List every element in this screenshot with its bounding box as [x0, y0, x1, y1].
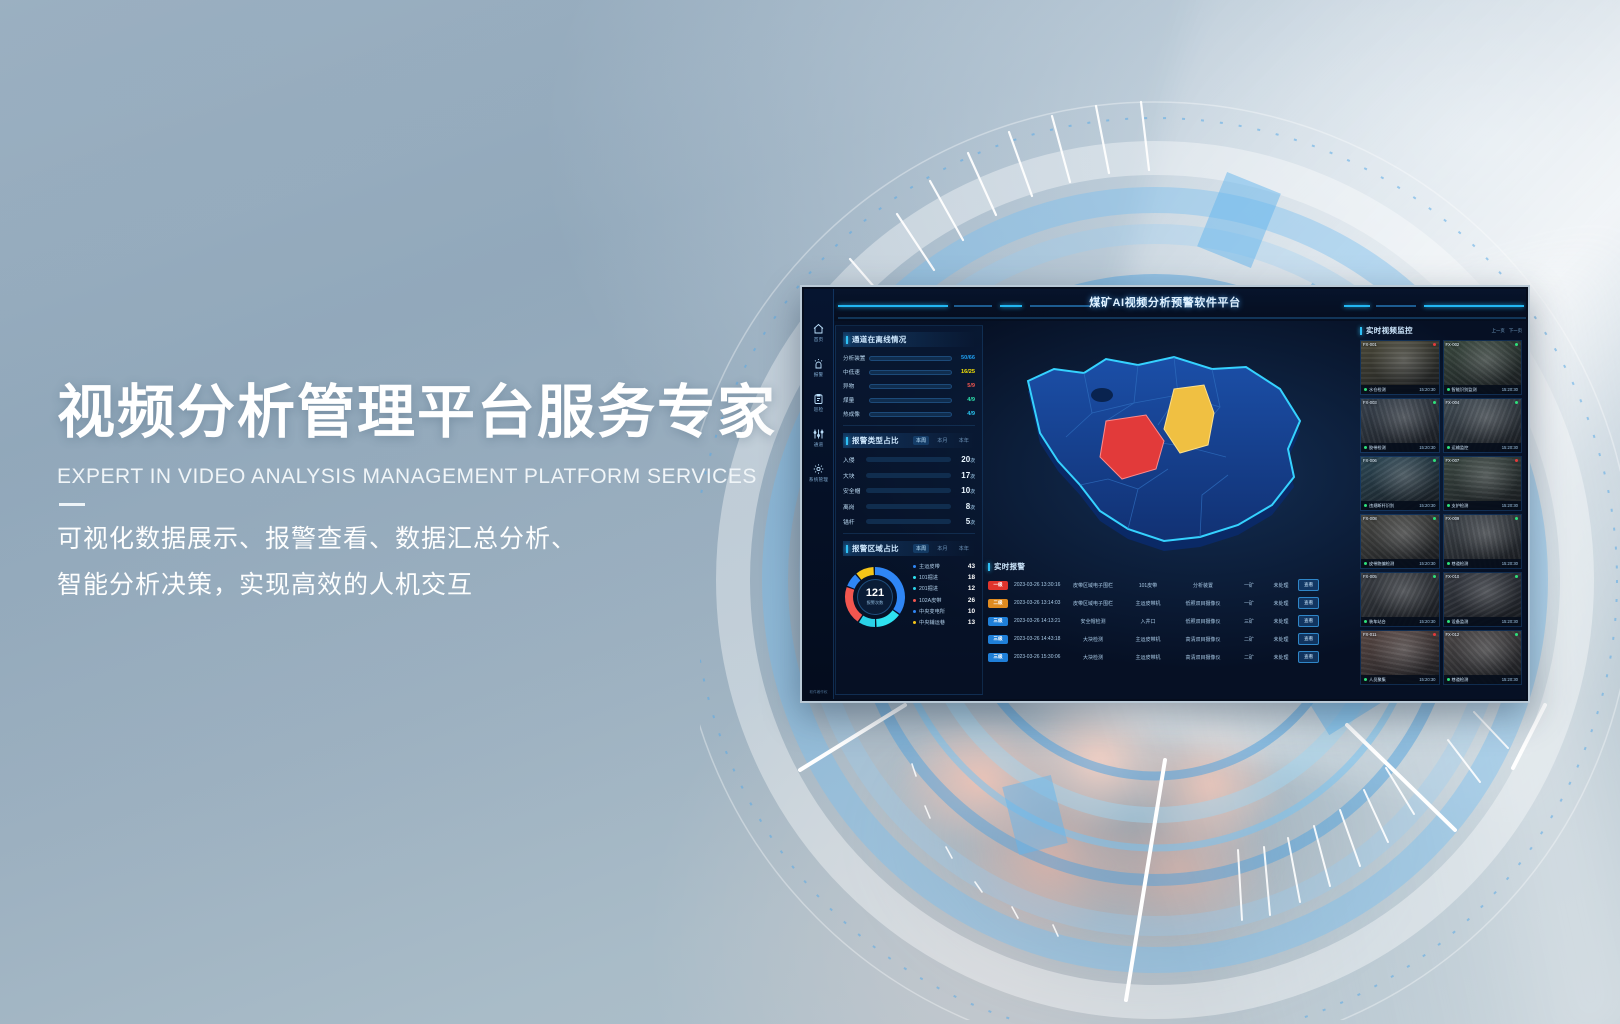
sidebar-label-system: 系统管理: [804, 477, 833, 483]
video-record-indicator: [1515, 401, 1518, 404]
video-camera-name: 设备监测: [1452, 619, 1502, 625]
legend-color-dot: [913, 576, 916, 579]
alarm-location: 入井口: [1124, 618, 1172, 625]
sidebar-item-channel[interactable]: 通道: [804, 428, 833, 448]
donut-center: 121 报警次数: [857, 579, 893, 615]
alarm-type-bar-track: [866, 457, 951, 462]
video-camera-name: 胶带检测: [1369, 445, 1419, 451]
period-tab-0[interactable]: 本周: [913, 436, 929, 445]
channel-value: 16/25: [952, 369, 975, 375]
sidebar-label-home: 首页: [804, 337, 833, 343]
video-status-dot: [1447, 620, 1450, 623]
alarm-status: 未处理: [1264, 636, 1298, 643]
legend-item: 101掘进 18: [913, 574, 975, 581]
alarm-type-panel-header: 报警类型占比 本周本月本年: [843, 433, 975, 448]
video-camera-id: FX-008: [1363, 516, 1377, 521]
legend-item: 主运皮带 43: [913, 563, 975, 570]
hero-line-1: 可视化数据展示、报警查看、数据汇总分析、: [57, 516, 817, 562]
channel-value: 4/9: [952, 411, 975, 417]
alarm-mine: 二矿: [1234, 636, 1264, 643]
video-camera-id: FX-005: [1363, 574, 1377, 579]
alarm-area-panel-title: 报警区域占比: [852, 543, 899, 554]
video-timestamp: 15:20:30: [1502, 619, 1518, 624]
alarm-mine: 二矿: [1234, 654, 1264, 661]
alarm-device: 低照双目摄像仪: [1172, 618, 1234, 625]
alarm-status: 未处理: [1264, 654, 1298, 661]
clipboard-icon: [804, 393, 833, 405]
video-pagination[interactable]: 上一页 下一页: [1492, 328, 1522, 334]
legend-color-dot: [913, 587, 916, 590]
accent-bar: [846, 545, 848, 553]
alarm-level-badge: 一级: [988, 581, 1008, 590]
alarm-device: 高清双目摄像仪: [1172, 654, 1234, 661]
video-timestamp: 15:20:30: [1419, 387, 1435, 392]
alarm-status: 未处理: [1264, 600, 1298, 607]
legend-value: 43: [968, 563, 975, 570]
video-tile-footer: 人员聚集 15:20:30: [1361, 675, 1439, 684]
realtime-alarm-title: 实时报警: [994, 561, 1025, 572]
video-camera-name: 皮带跑偏检测: [1369, 561, 1419, 567]
video-timestamp: 15:20:30: [1419, 677, 1435, 682]
video-record-indicator: [1433, 343, 1436, 346]
channel-bar-track: [869, 412, 952, 417]
video-status-dot: [1364, 388, 1367, 391]
period-tab-2[interactable]: 本年: [956, 436, 972, 445]
legend-color-dot: [913, 610, 916, 613]
donut-slice-2[interactable]: [861, 619, 875, 623]
alarm-type-row: 入侵 20次: [843, 455, 975, 464]
video-tile[interactable]: FX-005 装车站台 15:20:30: [1360, 572, 1440, 627]
page-title: 视频分析管理平台服务专家: [57, 380, 817, 447]
video-camera-id: FX-011: [1363, 632, 1376, 637]
video-camera-id: FX-002: [1446, 342, 1460, 347]
legend-value: 12: [968, 585, 975, 592]
dashboard-topbar: 煤矿AI视频分析预警软件平台: [804, 289, 1526, 321]
home-icon: [804, 323, 833, 335]
dashboard-sidebar: 首页 报警 巡检 通道: [804, 289, 834, 699]
channel-value: 50/66: [952, 355, 975, 361]
legend-value: 26: [968, 597, 975, 604]
video-tile[interactable]: FX-002 智能识别监测 15:20:30: [1443, 340, 1523, 395]
video-camera-name: 运输监控: [1452, 445, 1502, 451]
alarm-mine: 一矿: [1234, 582, 1264, 589]
video-timestamp: 15:20:30: [1502, 561, 1518, 566]
video-status-dot: [1447, 388, 1450, 391]
video-prev-page[interactable]: 上一页: [1492, 328, 1505, 334]
alarm-type-bar-track: [866, 488, 951, 493]
alarm-level-badge: 三级: [988, 653, 1008, 662]
video-record-indicator: [1433, 459, 1436, 462]
video-camera-name: 违规断杆识别: [1369, 503, 1419, 509]
alarm-type-value: 17次: [951, 471, 975, 480]
video-timestamp: 15:20:30: [1502, 445, 1518, 450]
hero-divider: [59, 503, 85, 506]
dashboard-screen: 煤矿AI视频分析预警软件平台 首页 报警: [804, 289, 1526, 699]
channel-label: 异物: [843, 382, 869, 390]
video-camera-id: FX-003: [1363, 400, 1377, 405]
video-camera-id: FX-012: [1446, 632, 1460, 637]
alarm-type-unit: 次: [970, 506, 975, 511]
video-panel-header: 实时视频监控 上一页 下一页: [1360, 325, 1522, 336]
donut-slice-5[interactable]: [859, 571, 874, 577]
alarm-location: 101皮带: [1124, 582, 1172, 589]
alarm-type-unit: 次: [970, 475, 975, 480]
alarm-type-value: 10次: [951, 486, 975, 495]
dashboard-monitor: 煤矿AI视频分析预警软件平台 首页 报警: [800, 285, 1530, 703]
video-status-dot: [1364, 678, 1367, 681]
channel-label: 中低速: [843, 368, 869, 376]
channel-value: 5/9: [952, 383, 975, 389]
app-title: 煤矿AI视频分析预警软件平台: [804, 294, 1526, 310]
alarm-device: 分析装置: [1172, 582, 1234, 589]
video-tile[interactable]: FX-008 皮带跑偏检测 15:20:30: [1360, 514, 1440, 569]
donut-chart: 121 报警次数: [843, 565, 907, 629]
channel-label: 煤量: [843, 396, 869, 404]
video-status-dot: [1364, 562, 1367, 565]
legend-value: 10: [968, 608, 975, 615]
alarm-view-button[interactable]: 查看: [1298, 615, 1319, 627]
video-tile-footer: 支护检测 15:20:30: [1444, 501, 1522, 510]
legend-label: 中央辅运巷: [919, 619, 968, 626]
channel-value: 4/9: [952, 397, 975, 403]
video-tile[interactable]: FX-006 违规断杆识别 15:20:30: [1360, 456, 1440, 511]
sidebar-label-channel: 通道: [804, 442, 833, 448]
video-tile[interactable]: FX-011 人员聚集 15:20:30: [1360, 630, 1440, 685]
sidebar-item-alarm[interactable]: 报警: [804, 358, 833, 378]
table-row[interactable]: 二级 2023-03-26 13:14:03 皮带区域电子围栏 主运皮带机 低照…: [988, 594, 1356, 612]
alarm-location: 主运皮带机: [1124, 600, 1172, 607]
legend-color-dot: [913, 565, 916, 568]
alarm-mine: 一矿: [1234, 600, 1264, 607]
divider: [843, 533, 975, 534]
alarm-level-badge: 三级: [988, 617, 1008, 626]
period-tab-1[interactable]: 本月: [934, 436, 950, 445]
realtime-alarm-header: 实时报警: [988, 561, 1356, 572]
video-camera-id: FX-004: [1446, 400, 1460, 405]
alarm-area-donut-section: 121 报警次数 主运皮带 43 101掘进 18 201掘进 12 102A皮…: [843, 563, 975, 630]
video-tile[interactable]: FX-007 支护检测 15:20:30: [1443, 456, 1523, 511]
channel-bar-track: [869, 398, 952, 403]
hero-line-2: 智能分析决策，实现高效的人机交互: [57, 562, 817, 608]
alarm-type-row: 大块 17次: [843, 471, 975, 480]
alarm-type-label: 离岗: [843, 502, 866, 511]
table-row[interactable]: 一级 2023-03-26 13:30:16 皮带区域电子围栏 101皮带 分析…: [988, 576, 1356, 594]
alarm-type: 大块检测: [1062, 654, 1124, 661]
sidebar-item-inspection[interactable]: 巡检: [804, 393, 833, 413]
accent-bar: [846, 437, 848, 445]
video-panel-title: 实时视频监控: [1366, 325, 1413, 336]
alarm-time: 2023-03-26 13:30:16: [1008, 582, 1062, 588]
video-camera-id: FX-007: [1446, 458, 1460, 463]
video-status-dot: [1447, 678, 1450, 681]
period-tab-0[interactable]: 本周: [913, 544, 929, 553]
video-timestamp: 15:20:30: [1419, 619, 1435, 624]
video-tile-footer: 胶带检测 15:20:30: [1361, 443, 1439, 452]
video-record-indicator: [1433, 633, 1436, 636]
alarm-type-unit: 次: [970, 459, 975, 464]
accent-bar: [846, 336, 848, 344]
video-tile[interactable]: FX-012 巷道检测 15:20:30: [1443, 630, 1523, 685]
table-row[interactable]: 三级 2023-03-26 14:43:18 大块检测 主运皮带机 高清双目摄像…: [988, 630, 1356, 648]
alarm-time: 2023-03-26 14:43:18: [1008, 636, 1062, 642]
alarm-type: 皮带区域电子围栏: [1062, 600, 1124, 607]
alarm-time: 2023-03-26 14:13:21: [1008, 618, 1062, 624]
video-record-indicator: [1433, 517, 1436, 520]
alarm-type-label: 大块: [843, 471, 866, 480]
alarm-type-row: 安全帽 10次: [843, 486, 975, 495]
alarm-view-button[interactable]: 查看: [1298, 633, 1319, 645]
video-timestamp: 15:20:30: [1419, 445, 1435, 450]
video-timestamp: 15:20:30: [1419, 503, 1435, 508]
alarm-type-label: 锚杆: [843, 517, 866, 526]
video-camera-name: 人员聚集: [1369, 677, 1419, 683]
video-camera-name: 支护检测: [1452, 503, 1502, 509]
sidebar-item-home[interactable]: 首页: [804, 323, 833, 343]
alarm-area-panel-header: 报警区域占比 本周本月本年: [843, 541, 975, 556]
video-camera-id: FX-006: [1363, 458, 1377, 463]
accent-bar: [1360, 327, 1362, 335]
video-tile-footer: 巷道检测 15:20:30: [1444, 559, 1522, 568]
video-tile[interactable]: FX-010 设备监测 15:20:30: [1443, 572, 1523, 627]
left-stats-panel: 通道在离线情况 分析装置 50/66 中低速 16/25 异物 5/9 煤量 4…: [835, 325, 983, 695]
alarm-type-value: 8次: [951, 502, 975, 511]
video-status-dot: [1364, 620, 1367, 623]
channel-row: 热成像 4/9: [843, 410, 975, 418]
alarm-view-button[interactable]: 查看: [1298, 597, 1319, 609]
alarm-type-value: 20次: [951, 455, 975, 464]
legend-label: 201掘进: [919, 585, 968, 592]
video-camera-name: 智能识别监测: [1452, 387, 1502, 393]
video-record-indicator: [1515, 459, 1518, 462]
video-camera-id: FX-010: [1446, 574, 1460, 579]
channel-bar-track: [869, 356, 952, 361]
alarm-status: 未处理: [1264, 582, 1298, 589]
hero-headline-block: 视频分析管理平台服务专家 EXPERT IN VIDEO ANALYSIS MA…: [57, 380, 817, 608]
video-status-dot: [1364, 504, 1367, 507]
video-camera-name: 装车站台: [1369, 619, 1419, 625]
video-status-dot: [1447, 446, 1450, 449]
alarm-type-value: 5次: [951, 517, 975, 526]
gear-icon: [804, 463, 833, 475]
video-next-page[interactable]: 下一页: [1509, 328, 1522, 334]
period-tab-2[interactable]: 本年: [956, 544, 972, 553]
video-tile[interactable]: FX-009 巷道检测 15:20:30: [1443, 514, 1523, 569]
channel-row: 中低速 16/25: [843, 368, 975, 376]
alarm-mine: 三矿: [1234, 618, 1264, 625]
video-tile-footer: 智能识别监测 15:20:30: [1444, 385, 1522, 394]
alarm-type: 皮带区域电子围栏: [1062, 582, 1124, 589]
alarm-type: 大块检测: [1062, 636, 1124, 643]
province-map[interactable]: [988, 329, 1340, 559]
legend-label: 102A皮带: [919, 597, 968, 604]
alarm-area-period-tabs[interactable]: 本周本月本年: [913, 544, 972, 553]
video-record-indicator: [1515, 633, 1518, 636]
divider: [843, 425, 975, 426]
legend-item: 201掘进 12: [913, 585, 975, 592]
alarm-type-label: 入侵: [843, 455, 866, 464]
alarm-device: 高清双目摄像仪: [1172, 636, 1234, 643]
alarm-type-bar-track: [866, 473, 951, 478]
legend-label: 主运皮带: [919, 563, 968, 570]
channel-label: 分析装置: [843, 354, 869, 362]
donut-total-value: 121: [866, 588, 884, 599]
alarm-location: 主运皮带机: [1124, 654, 1172, 661]
legend-label: 101掘进: [919, 574, 968, 581]
realtime-alarm-table: 一级 2023-03-26 13:30:16 皮带区域电子围栏 101皮带 分析…: [988, 576, 1356, 666]
table-row[interactable]: 三级 2023-03-26 14:13:21 安全帽检测 入井口 低照双目摄像仪…: [988, 612, 1356, 630]
video-status-dot: [1447, 562, 1450, 565]
video-tile-footer: 皮带跑偏检测 15:20:30: [1361, 559, 1439, 568]
copyright-note: 软件著作权: [804, 690, 833, 695]
alarm-view-button[interactable]: 查看: [1298, 579, 1319, 591]
legend-color-dot: [913, 599, 916, 602]
video-tile-footer: 设备监测 15:20:30: [1444, 617, 1522, 626]
alarm-level-badge: 二级: [988, 599, 1008, 608]
channel-row: 煤量 4/9: [843, 396, 975, 404]
alarm-view-button[interactable]: 查看: [1298, 651, 1319, 663]
video-tile-footer: 装车站台 15:20:30: [1361, 617, 1439, 626]
video-camera-id: FX-009: [1446, 516, 1460, 521]
legend-label: 中央变电所: [919, 608, 968, 615]
alarm-type-row: 离岗 8次: [843, 502, 975, 511]
channel-row: 分析装置 50/66: [843, 354, 975, 362]
channel-panel-title: 通道在离线情况: [852, 334, 907, 345]
video-camera-name: 巷道检测: [1452, 677, 1502, 683]
video-timestamp: 15:20:30: [1502, 387, 1518, 392]
alarm-type-bar-track: [866, 519, 951, 524]
video-tile[interactable]: FX-004 运输监控 15:20:30: [1443, 398, 1523, 453]
channel-bar-track: [869, 384, 952, 389]
alarm-type-panel-title: 报警类型占比: [852, 435, 899, 446]
video-camera-name: 水仓检测: [1369, 387, 1419, 393]
channel-bar-track: [869, 370, 952, 375]
channel-panel-header: 通道在离线情况: [843, 332, 975, 347]
video-status-dot: [1447, 504, 1450, 507]
table-row[interactable]: 三级 2023-03-26 15:30:06 大块检测 主运皮带机 高清双目摄像…: [988, 648, 1356, 666]
alarm-type-label: 安全帽: [843, 486, 866, 495]
channel-label: 热成像: [843, 410, 869, 418]
alarm-type-period-tabs[interactable]: 本周本月本年: [913, 436, 972, 445]
alarm-level-badge: 三级: [988, 635, 1008, 644]
alarm-type-bar-list: 入侵 20次 大块 17次 安全帽 10次 离岗 8次 锚杆 5次: [843, 455, 975, 526]
legend-value: 13: [968, 619, 975, 626]
legend-color-dot: [913, 621, 916, 624]
map-body: [1028, 357, 1300, 541]
channel-row: 异物 5/9: [843, 382, 975, 390]
video-timestamp: 15:20:30: [1419, 561, 1435, 566]
realtime-alarm-panel: 实时报警 一级 2023-03-26 13:30:16 皮带区域电子围栏 101…: [988, 561, 1356, 695]
alarm-type-unit: 次: [970, 490, 975, 495]
alarm-location: 主运皮带机: [1124, 636, 1172, 643]
sidebar-label-alarm: 报警: [804, 372, 833, 378]
alarm-status: 未处理: [1264, 618, 1298, 625]
alarm-type-unit: 次: [970, 521, 975, 526]
alarm-time: 2023-03-26 15:30:06: [1008, 654, 1062, 660]
channel-bar-list: 分析装置 50/66 中低速 16/25 异物 5/9 煤量 4/9 热成像 4…: [843, 354, 975, 418]
alarm-type-bar-track: [866, 504, 951, 509]
video-tile-footer: 巷道检测 15:20:30: [1444, 675, 1522, 684]
period-tab-1[interactable]: 本月: [934, 544, 950, 553]
video-record-indicator: [1433, 575, 1436, 578]
map-lake: [1091, 388, 1113, 402]
donut-slice-4[interactable]: [851, 577, 858, 587]
alarm-type: 安全帽检测: [1062, 618, 1124, 625]
accent-bar: [988, 563, 990, 571]
video-tile-footer: 违规断杆识别 15:20:30: [1361, 501, 1439, 510]
video-record-indicator: [1515, 575, 1518, 578]
donut-legend: 主运皮带 43 101掘进 18 201掘进 12 102A皮带 26 中央变电…: [913, 563, 975, 630]
donut-total-label: 报警次数: [867, 600, 884, 606]
video-camera-id: FX-001: [1363, 342, 1377, 347]
video-timestamp: 15:20:30: [1502, 503, 1518, 508]
video-record-indicator: [1515, 517, 1518, 520]
video-tile-footer: 水仓检测 15:20:30: [1361, 385, 1439, 394]
legend-item: 中央变电所 10: [913, 608, 975, 615]
video-record-indicator: [1515, 343, 1518, 346]
legend-item: 中央辅运巷 13: [913, 619, 975, 626]
video-timestamp: 15:20:30: [1502, 677, 1518, 682]
video-status-dot: [1364, 446, 1367, 449]
alarm-device: 低照双目摄像仪: [1172, 600, 1234, 607]
legend-item: 102A皮带 26: [913, 597, 975, 604]
sidebar-item-system[interactable]: 系统管理: [804, 463, 833, 483]
video-tile-footer: 运输监控 15:20:30: [1444, 443, 1522, 452]
video-monitor-panel: 实时视频监控 上一页 下一页 FX-001 水仓检测 15:20:30 FX-0…: [1360, 325, 1522, 695]
legend-value: 18: [968, 574, 975, 581]
alarm-light-icon: [804, 358, 833, 370]
alarm-time: 2023-03-26 13:14:03: [1008, 600, 1062, 606]
sidebar-label-inspection: 巡检: [804, 407, 833, 413]
video-tile-grid: FX-001 水仓检测 15:20:30 FX-002 智能识别监测 15:20…: [1360, 340, 1522, 685]
video-record-indicator: [1433, 401, 1436, 404]
video-camera-name: 巷道检测: [1452, 561, 1502, 567]
video-tile[interactable]: FX-003 胶带检测 15:20:30: [1360, 398, 1440, 453]
hero-subtitle-en: EXPERT IN VIDEO ANALYSIS MANAGEMENT PLAT…: [57, 465, 817, 489]
alarm-type-row: 锚杆 5次: [843, 517, 975, 526]
video-tile[interactable]: FX-001 水仓检测 15:20:30: [1360, 340, 1440, 395]
channel-icon: [804, 428, 833, 440]
